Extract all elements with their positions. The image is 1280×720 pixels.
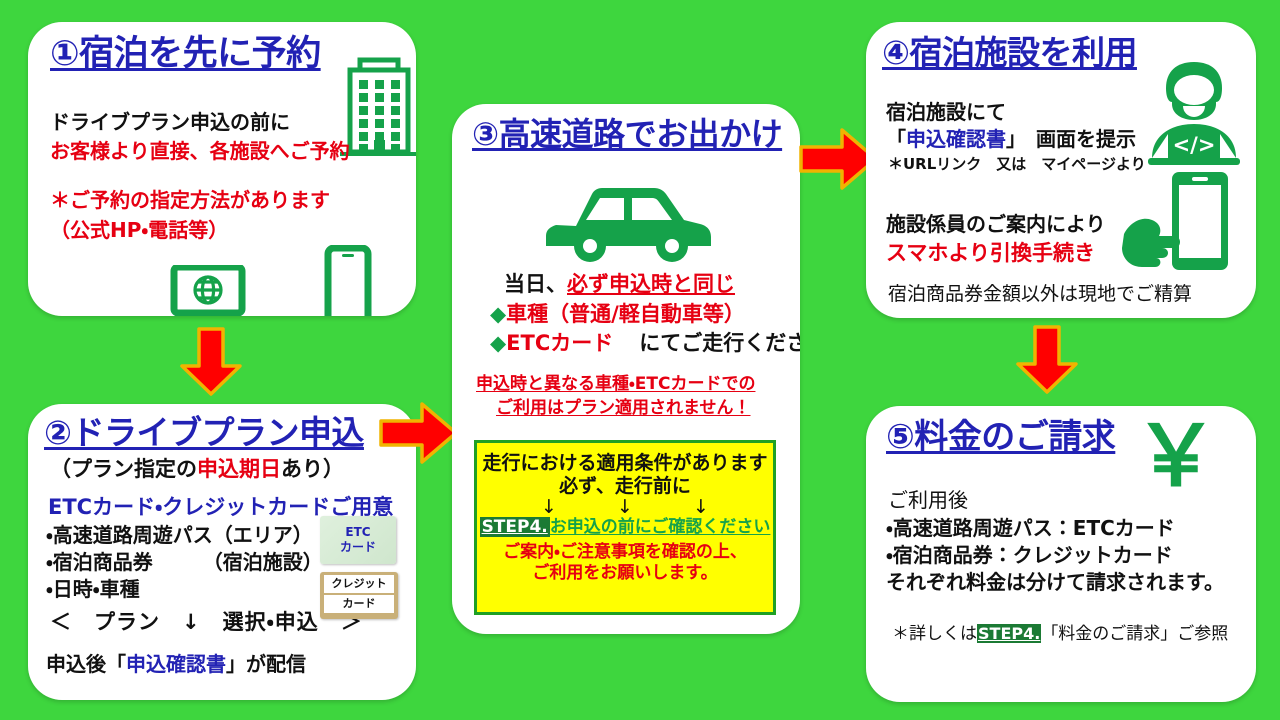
etc-card-line-2: カード [340,540,376,555]
card-step-4: ④宿泊施設を利用 宿泊施設にて 「申込確認書」 画面を提示 ＊URLリンク 又は… [866,22,1256,318]
card-step-1: ①宿泊を先に予約 ドライブプラン申込の前に [28,22,416,316]
down-arrow-icon-3: ↓ [693,499,709,516]
notice-line-4: ご利用をお願いします。 [477,563,773,584]
card5-line-2: ・高速道路周遊パス：ETCカード [886,516,1175,542]
card5-line-4: それぞれ料金は分けて請求されます。 [886,570,1224,596]
card2-footer-a: 申込後「 [46,652,126,676]
card1-line-2: お客様より直接、各施設へご予約 [50,139,350,165]
card4-line-2-blue: 申込確認書 [906,127,1006,151]
etc-card-graphic: ETC カード [320,516,396,564]
notice-line-1: 走行における適用条件があります [477,452,773,475]
car-icon [542,180,714,270]
card2-subtitle-red: 申込期日 [197,457,281,481]
card5-line-1: ご利用後 [888,488,968,514]
card3-bullet-1-text: 車種（普通/軽自動車等） [506,302,745,326]
notice-down-arrows: ↓ ↓ ↓ [477,499,773,516]
card4-line-5: スマホより引換手続き [886,240,1095,267]
laptop-globe-icon [156,265,260,316]
card4-line-4: 施設係員のご案内により [886,212,1106,238]
card2-subtitle-b: あり） [281,457,344,481]
notice-line-2: 必ず、走行前に [477,475,773,498]
card4-line-2: 「申込確認書」 画面を提示 [886,127,1136,153]
step4-link-text[interactable]: お申込の前にご確認ください [550,517,771,537]
card5-footer[interactable]: ＊詳しくはSTEP4.「料金のご請求」ご参照 [892,624,1228,646]
card3-warn-line-1: 申込時と異なる車種・ETCカードでの [476,374,755,396]
infographic-stage: ①宿泊を先に予約 ドライブプラン申込の前に [0,0,1280,720]
credit-card-line-1: クレジット [324,575,394,593]
card2-title: ②ドライブプラン申込 [44,416,364,451]
card3-title: ③高速道路でお出かけ [472,118,782,152]
card3-bullet-1-mark: ◆ [490,302,506,326]
notice-box: 走行における適用条件があります 必ず、走行前に ↓ ↓ ↓ STEP4.お申込の… [474,440,776,615]
card2-footer-blue: 申込確認書 [126,652,226,676]
arrow-card1-to-card2 [177,326,245,398]
card5-line-3: ・宿泊商品券：クレジットカード [886,543,1173,569]
card2-bullet-2: ・宿泊商品券 （宿泊施設） [46,550,323,576]
notice-line-3: ご案内・ご注意事項を確認の上、 [477,542,773,563]
card3-warn-line-2: ご利用はプラン適用されません！ [496,398,751,420]
card2-footer-b: 」が配信 [226,652,306,676]
notice-step-link-row[interactable]: STEP4.お申込の前にご確認ください [477,517,773,538]
card2-subtitle-a: （プラン指定の [50,457,197,481]
card4-line-2-b: 」 画面を提示 [1006,127,1136,151]
etc-card-line-1: ETC [345,525,370,540]
laptop-code-glyph: </> [1173,133,1216,157]
card3-bullet-2-red: ETCカード [506,331,613,355]
card3-bullet-1: ◆車種（普通/軽自動車等） [490,301,745,328]
card5-step4-chip[interactable]: STEP4. [977,624,1041,643]
card1-title: ①宿泊を先に予約 [50,36,321,73]
card5-title: ⑤料金のご請求 [886,420,1115,456]
building-icon [338,52,416,164]
card2-footer: 申込後「申込確認書」が配信 [46,652,306,678]
credit-card-graphic: クレジット カード [320,572,398,619]
credit-card-line-2: カード [324,595,394,613]
card4-line-3: ＊URLリンク 又は マイページより [888,155,1146,174]
down-arrow-icon-1: ↓ [541,499,557,516]
card1-line-3: ＊ご予約の指定方法があります [50,188,330,214]
step4-chip[interactable]: STEP4. [480,517,550,537]
yen-icon: ￥ [1134,414,1218,498]
person-laptop-icon: </> [1142,58,1246,174]
card4-line-1: 宿泊施設にて [886,100,1006,126]
card2-flow: ＜ プラン ↓ 選択・申込 ＞ [50,609,363,636]
hand-smartphone-icon [1116,168,1246,294]
arrow-card2-to-card3 [378,398,460,470]
card2-bullet-3: ・日時・車種 [46,577,140,603]
card4-line-2-a: 「 [886,127,906,151]
card1-line-1: ドライブプラン申込の前に [50,110,290,136]
card3-same-a: 当日、 [504,272,567,296]
card3-same-red: 必ず申込時と同じ [567,272,735,296]
down-arrow-icon-2: ↓ [617,499,633,516]
card4-title: ④宿泊施設を利用 [882,36,1137,71]
card3-bullet-2-mark: ◆ [490,331,506,355]
card3-same-line: 当日、必ず申込時と同じ [504,271,735,298]
card5-footer-a: ＊詳しくは [892,624,977,644]
card-step-5: ⑤料金のご請求 ￥ ご利用後 ・高速道路周遊パス：ETCカード ・宿泊商品券：ク… [866,406,1256,702]
smartphone-icon [322,245,374,316]
card2-subtitle: （プラン指定の申込期日あり） [50,456,344,483]
arrow-card4-to-card5 [1011,324,1083,396]
card5-footer-b: 「料金のご請求」ご参照 [1041,624,1228,644]
card3-bullet-2-blk: にてご走行ください [639,331,800,355]
card1-line-4: （公式HP・電話等） [50,218,228,244]
card2-bullet-1: ・高速道路周遊パス（エリア） [46,523,313,549]
card3-bullet-2: ◆ETCカードにてご走行ください [490,330,800,357]
